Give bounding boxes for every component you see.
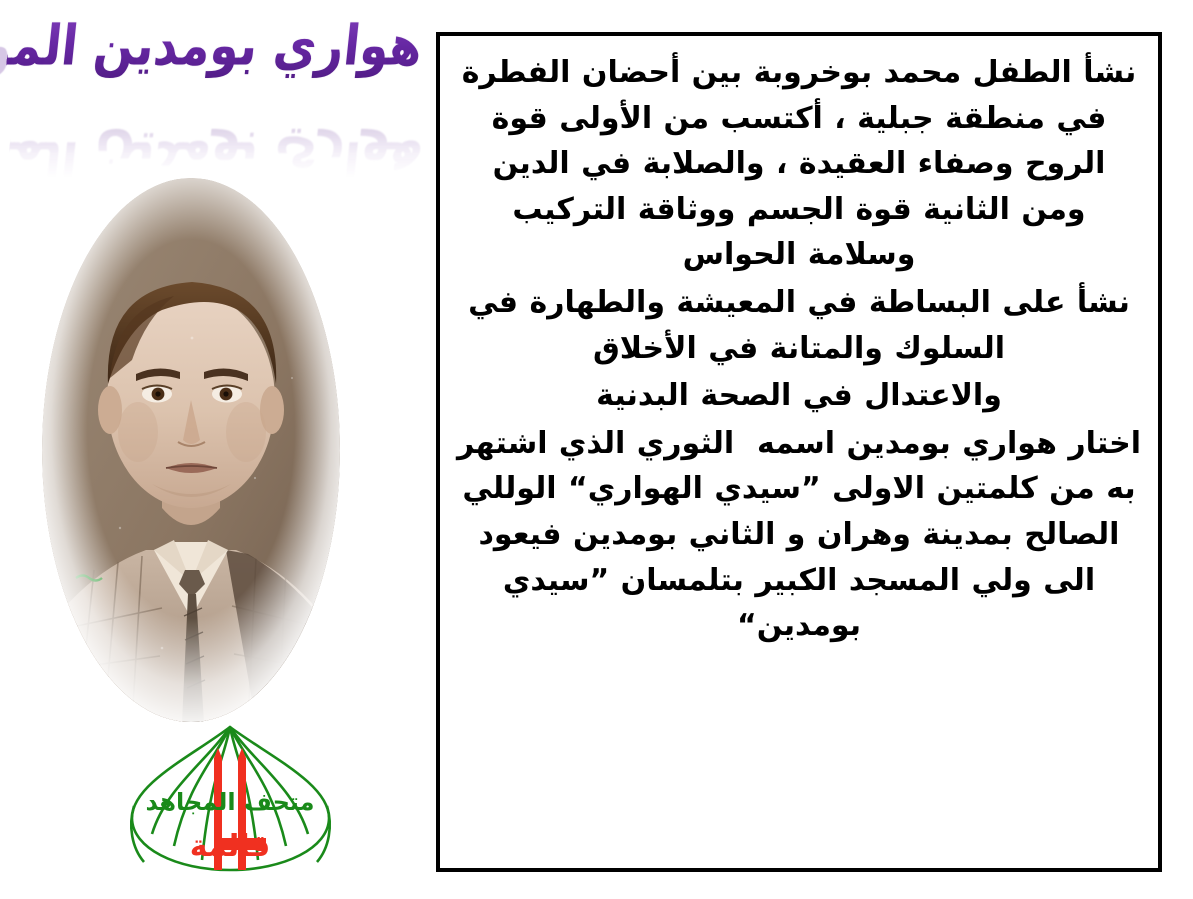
page-title: هواري بومدين المولد والطفولة: [4, 13, 425, 82]
biography-text-box: نشأ الطفل محمد بوخروبة بين أحضان الفطرة …: [436, 32, 1162, 872]
slide-canvas: هواري بومدين المولد والطفولة هواري بومدي…: [0, 0, 1193, 899]
museum-emblem-logo: متحف المجاهد قالمة: [118, 722, 343, 874]
dome-emblem-icon: متحف المجاهد قالمة: [118, 722, 343, 874]
paragraph-3: والاعتدال في الصحة البدنية: [456, 373, 1142, 419]
portrait-illustration: [42, 178, 340, 723]
paragraph-2: نشأ على البساطة في المعيشة والطهارة في ا…: [456, 280, 1142, 371]
paragraph-1: نشأ الطفل محمد بوخروبة بين أحضان الفطرة …: [456, 50, 1142, 278]
emblem-city-name: قالمة: [190, 829, 270, 864]
left-column: هواري بومدين المولد والطفولة هواري بومدي…: [0, 0, 430, 899]
biography-text-body: نشأ الطفل محمد بوخروبة بين أحضان الفطرة …: [456, 50, 1142, 649]
portrait-photo: [42, 178, 340, 723]
paragraph-4: اختار هواري بومدين اسمه الثوري الذي اشته…: [456, 421, 1142, 649]
emblem-museum-name: متحف المجاهد: [145, 788, 314, 816]
title-block: هواري بومدين المولد والطفولة هواري بومدي…: [8, 18, 422, 178]
